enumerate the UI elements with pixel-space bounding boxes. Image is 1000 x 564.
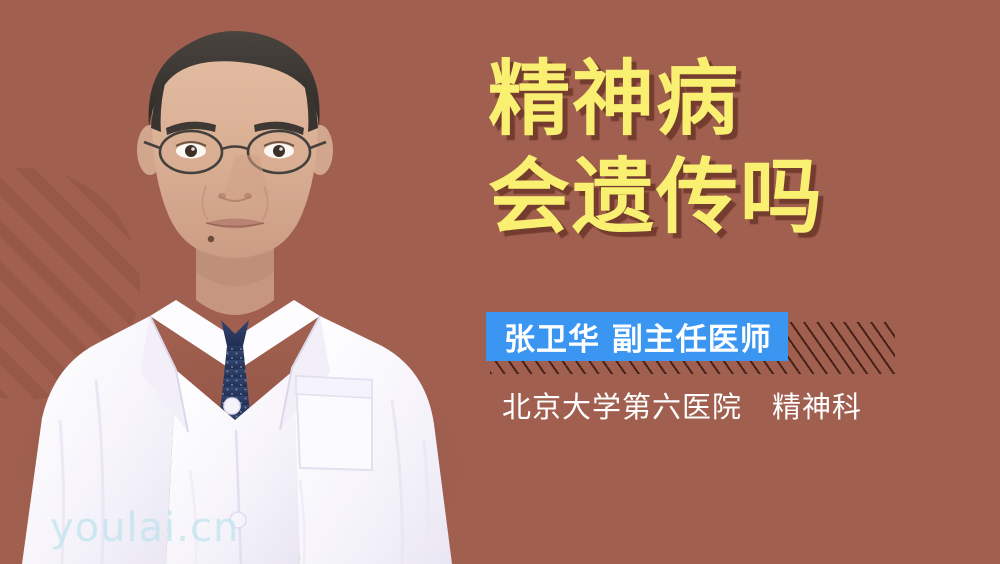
headline: 精神病 会遗传吗 xyxy=(488,58,918,239)
doctor-affiliation: 北京大学第六医院 精神科 xyxy=(502,384,862,426)
doctor-name-title: 张卫华 副主任医师 xyxy=(504,314,772,359)
headline-line-1: 精神病 xyxy=(488,58,918,142)
video-thumbnail: 精神病 会遗传吗 张卫华 副主任医师 北京大学第六医院 精神科 youlai.c… xyxy=(0,0,1000,564)
doctor-name-badge: 张卫华 副主任医师 xyxy=(486,312,788,361)
headline-line-2: 会遗传吗 xyxy=(488,156,918,240)
doctor-portrait xyxy=(0,0,470,564)
site-watermark: youlai.cn xyxy=(50,505,239,551)
